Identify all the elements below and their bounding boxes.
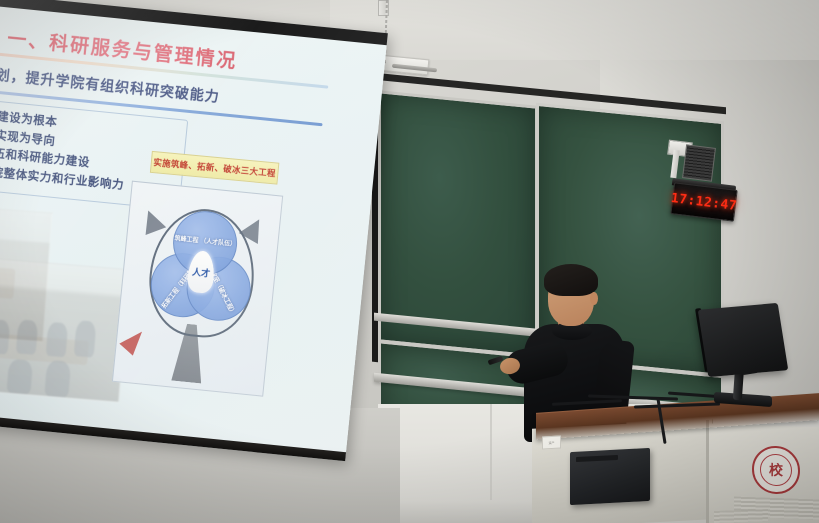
- emblem-inner-ring: 校: [760, 453, 792, 486]
- venn-core-label: 人才: [192, 265, 211, 280]
- presenter-ear: [590, 292, 598, 305]
- podium-touch-monitor: [698, 303, 789, 377]
- lectern: 资产 校: [536, 398, 819, 523]
- ceiling-band: [330, 0, 819, 60]
- presenter-hair: [544, 264, 598, 296]
- venn-circle-top-label: 筑峰工程 （人才队伍）: [174, 236, 236, 250]
- clock-time-display: 17:12:47: [670, 190, 738, 213]
- asset-tag: 资产: [542, 436, 561, 450]
- wall-speaker: [682, 144, 716, 181]
- emblem-glyph: 校: [769, 463, 783, 477]
- slide-surface: 一、科研服务与管理情况 定发展规划，提升学院有组织科研突破能力 以师资队伍建设为…: [0, 0, 388, 461]
- baseboard: [378, 500, 538, 523]
- lectern-panel-seam: [706, 420, 709, 523]
- meeting-photo-lower: [0, 255, 130, 403]
- projection-screen: 一、科研服务与管理情况 定发展规划，提升学院有组织科研突破能力 以师资队伍建设为…: [0, 0, 388, 461]
- talent-tree-venn: 拓新工程（科研能力） 科技攻坚（破冰工程） 筑峰工程 （人才队伍） 人才: [112, 181, 283, 397]
- venn-stage: 拓新工程（科研能力） 科技攻坚（破冰工程） 筑峰工程 （人才队伍） 人才: [113, 182, 282, 396]
- university-emblem: 校: [752, 445, 800, 495]
- lectern-vent-grille-secondary: [714, 509, 768, 523]
- lecture-hall-scene: 电动投影幕 17:12:47 一、科研服务与管理情况 定发展规划，提升学院有组织…: [0, 0, 819, 523]
- left-triangle-icon: [138, 207, 166, 235]
- red-arrow-icon: [119, 326, 148, 356]
